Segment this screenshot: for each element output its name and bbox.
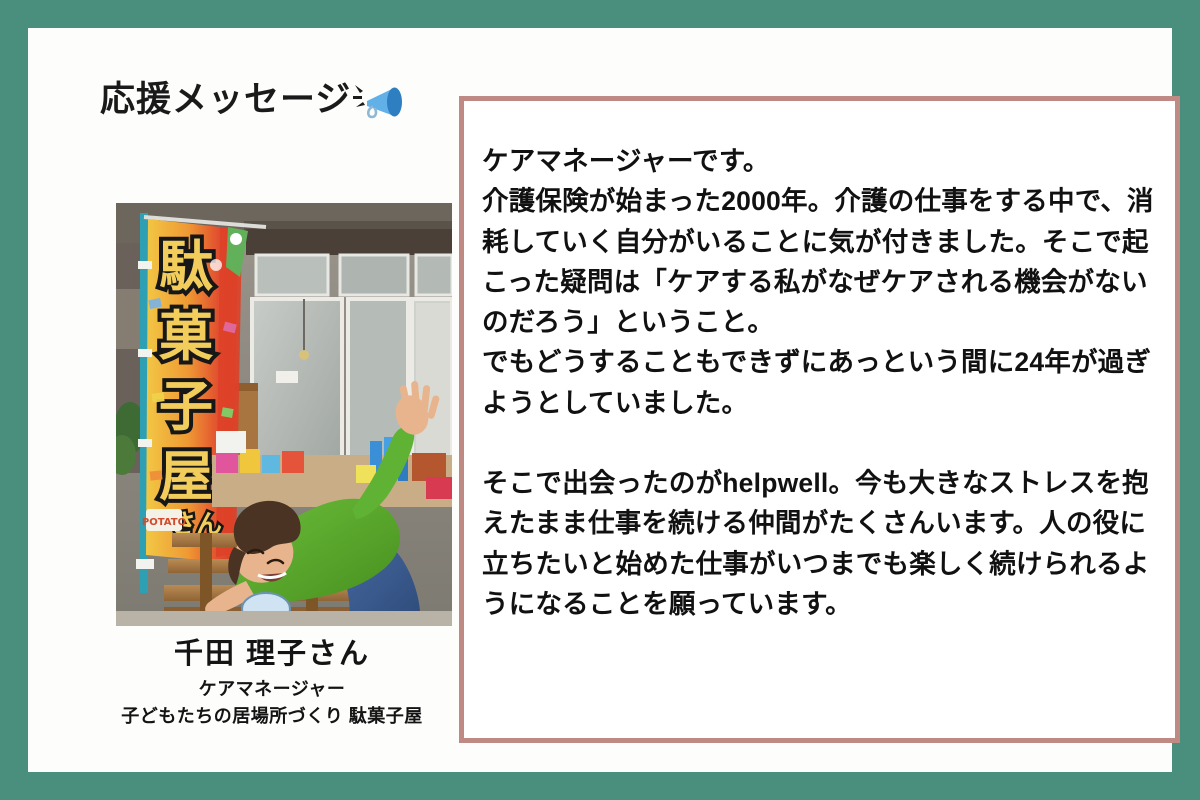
svg-text:屋: 屋	[159, 445, 213, 508]
person-activity: 子どもたちの居場所づくり 駄菓子屋	[74, 703, 470, 730]
svg-text:子: 子	[159, 375, 213, 438]
page-title: 応援メッセージ	[74, 68, 470, 130]
svg-text:POTATO: POTATO	[142, 517, 186, 528]
profile-photo-image: 駄 駄 菓 菓 子 子 屋 屋 さん さん	[116, 203, 452, 626]
slide-root: 応援メッセージ	[0, 0, 1200, 800]
megaphone-icon	[353, 79, 409, 125]
person-role: ケアマネージャー	[74, 676, 470, 703]
message-body: ケアマネージャーです。 介護保険が始まった2000年。介護の仕事をする中で、消耗…	[464, 101, 1175, 624]
profile-column: 応援メッセージ	[74, 68, 470, 748]
person-name: 千田 理子さん	[74, 636, 470, 673]
svg-text:菓: 菓	[159, 305, 213, 368]
svg-text:駄: 駄	[159, 235, 213, 298]
page-title-text: 応援メッセージ	[100, 82, 351, 117]
profile-caption: 千田 理子さん ケアマネージャー 子どもたちの居場所づくり 駄菓子屋	[74, 636, 470, 730]
profile-photo: 駄 駄 菓 菓 子 子 屋 屋 さん さん	[116, 203, 452, 626]
content-card: 応援メッセージ	[28, 28, 1172, 772]
message-box: ケアマネージャーです。 介護保険が始まった2000年。介護の仕事をする中で、消耗…	[459, 96, 1180, 743]
